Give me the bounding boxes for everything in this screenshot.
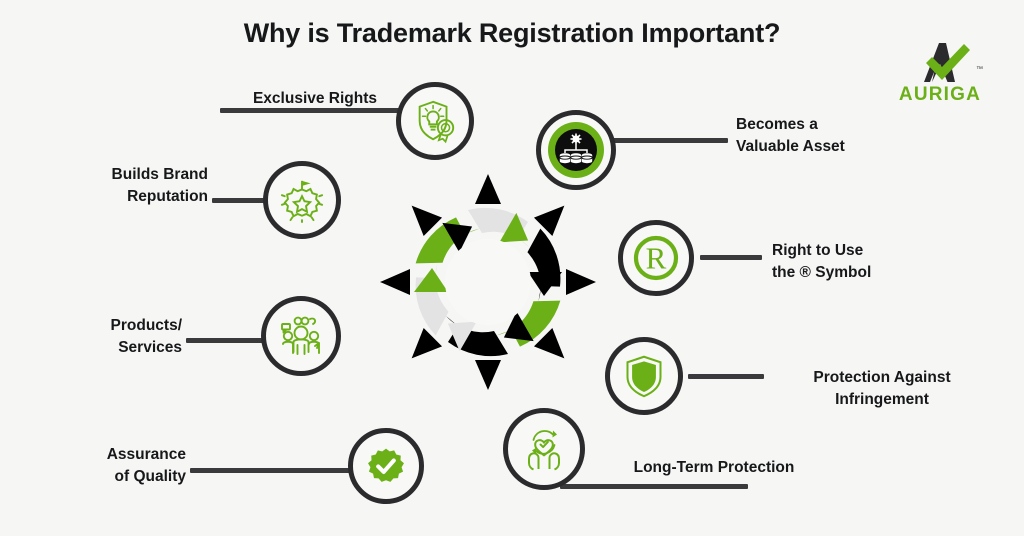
auriga-logo: ™ AURIGA bbox=[880, 40, 1000, 108]
label-long-term-protection: Long-Term Protection bbox=[598, 457, 830, 479]
node-assurance-of-quality[interactable] bbox=[348, 428, 424, 504]
node-protection-against-infringement[interactable] bbox=[605, 337, 683, 415]
connector-protection-against-infringement bbox=[688, 374, 764, 379]
infographic-canvas: Why is Trademark Registration Important?… bbox=[0, 0, 1024, 536]
people-services-icon bbox=[277, 312, 325, 360]
node-long-term-protection[interactable] bbox=[503, 408, 585, 490]
svg-text:R: R bbox=[646, 241, 667, 276]
registered-r-icon: R bbox=[629, 231, 683, 285]
label-becomes-valuable-asset: Becomes a Valuable Asset bbox=[736, 114, 966, 159]
label-assurance-of-quality: Assurance of Quality bbox=[20, 444, 186, 489]
auriga-a-checkmark-logo-icon bbox=[902, 40, 978, 82]
node-becomes-valuable-asset[interactable] bbox=[536, 110, 616, 190]
label-products-services: Products/ Services bbox=[22, 315, 182, 360]
node-products-services[interactable] bbox=[261, 296, 341, 376]
node-right-to-use-r-symbol[interactable]: R bbox=[618, 220, 694, 296]
shield-icon bbox=[622, 354, 666, 398]
connector-becomes-valuable-asset bbox=[612, 138, 728, 143]
trademark-symbol: ™ bbox=[976, 66, 983, 73]
check-badge-icon bbox=[364, 444, 408, 488]
connector-assurance-of-quality bbox=[190, 468, 352, 473]
node-exclusive-rights[interactable] bbox=[396, 82, 474, 160]
auriga-wordmark: AURIGA bbox=[880, 84, 1000, 106]
connector-long-term-protection bbox=[560, 484, 748, 489]
node-builds-brand-reputation[interactable] bbox=[263, 161, 341, 239]
shield-lightbulb-award-icon bbox=[412, 98, 458, 144]
database-network-icon bbox=[545, 119, 607, 181]
circular-arrow-wheel-icon bbox=[368, 172, 608, 392]
connector-right-to-use-r-symbol bbox=[700, 255, 762, 260]
label-right-to-use-r-symbol: Right to Use the ® Symbol bbox=[772, 240, 992, 285]
star-badge-flag-icon bbox=[279, 177, 325, 223]
label-protection-against-infringement: Protection Against Infringement bbox=[766, 367, 998, 412]
hands-heart-icon bbox=[520, 425, 568, 473]
label-exclusive-rights: Exclusive Rights bbox=[222, 88, 408, 110]
connector-products-services bbox=[186, 338, 266, 343]
label-builds-brand-reputation: Builds Brand Reputation bbox=[40, 164, 208, 209]
page-title: Why is Trademark Registration Important? bbox=[0, 18, 1024, 49]
